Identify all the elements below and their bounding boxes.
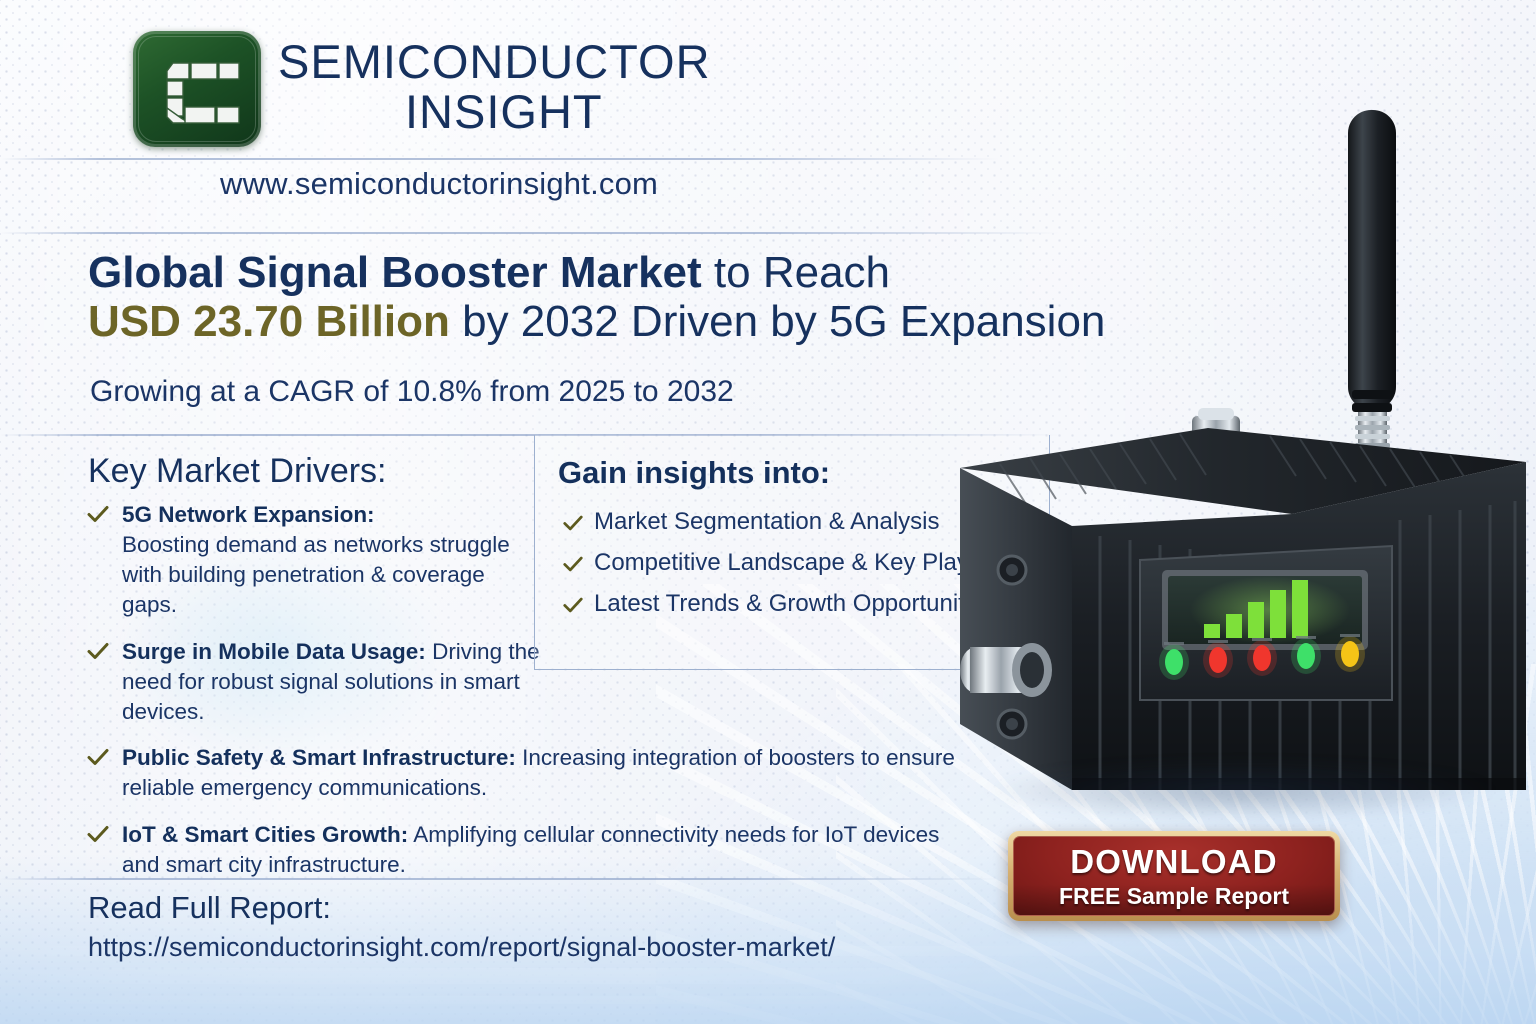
- check-icon: [562, 512, 584, 534]
- driver-item: 5G Network Expansion: Boosting demand as…: [86, 500, 538, 620]
- driver-item: IoT & Smart Cities Growth: Amplifying ce…: [86, 820, 966, 880]
- check-icon: [86, 639, 110, 663]
- driver-heading: Surge in Mobile Data Usage:: [122, 639, 426, 664]
- divider-under-url: [0, 232, 1060, 234]
- download-button-sublabel: FREE Sample Report: [1059, 883, 1289, 910]
- headline-strong: Global Signal Booster Market: [88, 248, 702, 297]
- brand-website[interactable]: www.semiconductorinsight.com: [220, 166, 658, 202]
- driver-heading: Public Safety & Smart Infrastructure:: [122, 745, 516, 770]
- device-shadow: [980, 760, 1500, 820]
- check-icon: [86, 502, 110, 526]
- driver-body: Boosting demand as networks struggle wit…: [122, 532, 510, 617]
- insight-label: Market Segmentation & Analysis: [594, 508, 940, 535]
- semiconductor-insight-c-logo-icon: [133, 31, 261, 147]
- brand-logo-badge: [133, 31, 261, 147]
- download-sample-report-button[interactable]: DOWNLOAD FREE Sample Report: [1008, 831, 1340, 921]
- brand-name-line1: SEMICONDUCTOR: [278, 34, 711, 89]
- headline-rest: to Reach: [702, 248, 890, 297]
- antenna: [1348, 110, 1396, 462]
- check-icon: [562, 594, 584, 616]
- brand-name-line2: INSIGHT: [405, 84, 603, 139]
- check-icon: [562, 553, 584, 575]
- signal-booster-device: [940, 90, 1536, 830]
- driver-heading: 5G Network Expansion:: [122, 502, 375, 527]
- coax-port: [960, 643, 1052, 697]
- driver-heading: IoT & Smart Cities Growth:: [122, 822, 408, 847]
- insights-title: Gain insights into:: [558, 455, 830, 491]
- download-button-inner[interactable]: DOWNLOAD FREE Sample Report: [1013, 836, 1335, 916]
- divider-top: [0, 158, 1000, 160]
- check-icon: [86, 822, 110, 846]
- headline-subline: Growing at a CAGR of 10.8% from 2025 to …: [90, 375, 734, 409]
- driver-item: Surge in Mobile Data Usage: Driving the …: [86, 637, 554, 727]
- read-full-report-label: Read Full Report:: [88, 890, 331, 926]
- download-button-label: DOWNLOAD: [1070, 843, 1278, 881]
- signal-booster-illustration: [940, 90, 1536, 830]
- headline-value: USD 23.70 Billion: [88, 297, 450, 346]
- drivers-title: Key Market Drivers:: [88, 452, 387, 491]
- infographic-page: SEMICONDUCTOR INSIGHT www.semiconductori…: [0, 0, 1536, 1024]
- insight-label: Latest Trends & Growth Opportunities: [594, 590, 996, 617]
- report-url-link[interactable]: https://semiconductorinsight.com/report/…: [88, 932, 835, 963]
- driver-item: Public Safety & Smart Infrastructure: In…: [86, 743, 966, 803]
- check-icon: [86, 745, 110, 769]
